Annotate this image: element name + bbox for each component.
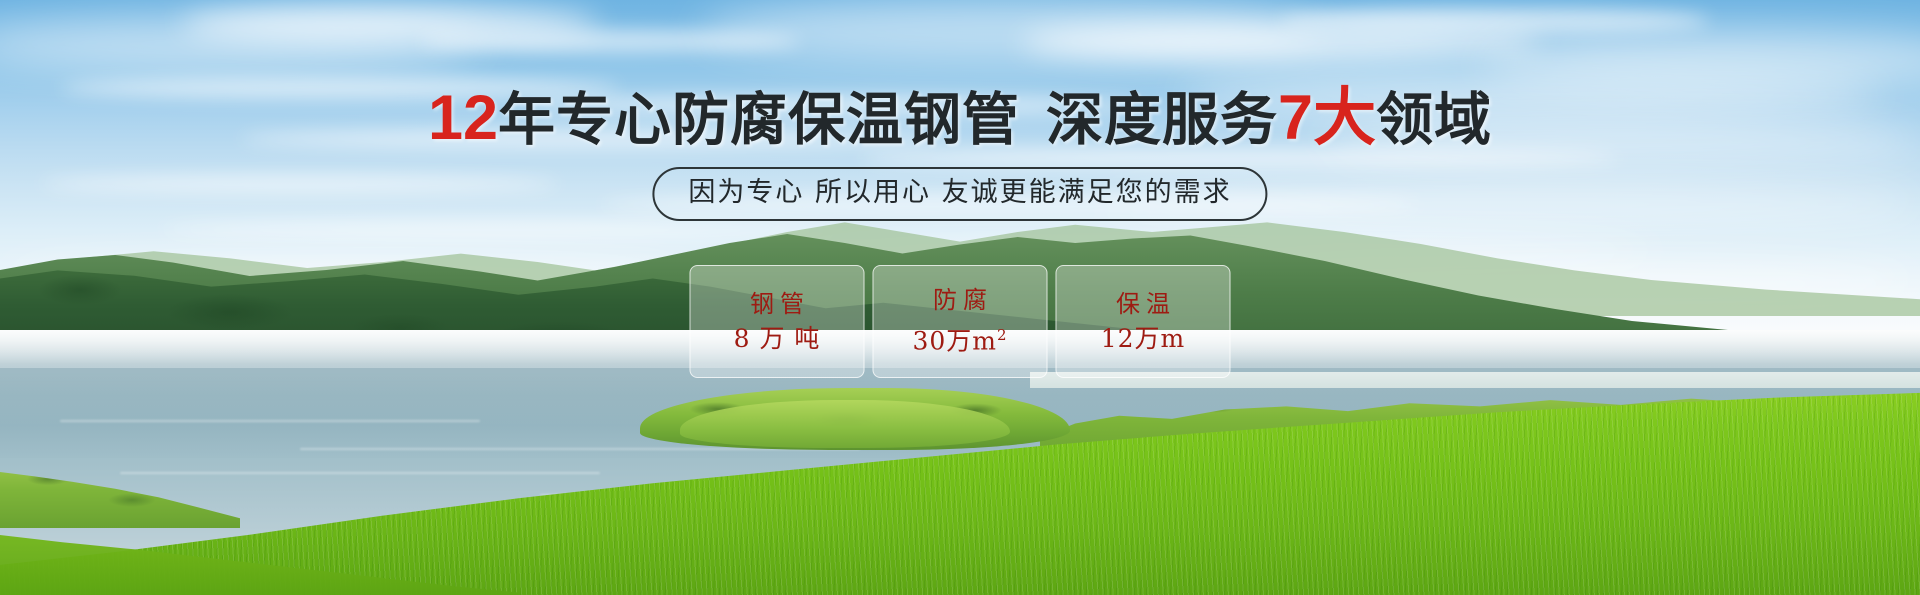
stat-card-value-superscript: 2 (997, 326, 1008, 344)
stat-card-value: 8 万 吨 (734, 324, 821, 354)
stat-card-title: 保温 (1110, 290, 1176, 318)
grass-island-top (680, 400, 1010, 448)
headline-text-fields: 领域 (1376, 87, 1492, 153)
hero-banner: 12年专心防腐保温钢管深度服务7大领域 因为专心 所以用心 友诚更能满足您的需求… (0, 0, 1920, 595)
stat-card-title: 钢管 (744, 290, 810, 318)
stat-card-anticorrosion[interactable]: 防腐 30万m2 (873, 265, 1048, 378)
headline-number-years: 12 (428, 83, 498, 153)
subtitle-pill: 因为专心 所以用心 友诚更能满足您的需求 (652, 167, 1267, 221)
stat-card-steel-pipe[interactable]: 钢管 8 万 吨 (690, 265, 865, 378)
headline-number-fields: 7 (1278, 83, 1313, 153)
headline-unit-da: 大 (1313, 83, 1376, 153)
headline-text-primary: 年专心防腐保温钢管 (498, 87, 1020, 153)
stat-card-value: 30万m2 (912, 320, 1007, 356)
stat-card-value: 12万m (1101, 324, 1186, 354)
headline: 12年专心防腐保温钢管深度服务7大领域 (0, 88, 1920, 150)
stat-card-title: 防腐 (927, 286, 993, 314)
stat-card-insulation[interactable]: 保温 12万m (1056, 265, 1231, 378)
headline-text-service: 深度服务 (1046, 87, 1278, 153)
stat-card-group: 钢管 8 万 吨 防腐 30万m2 保温 12万m (690, 265, 1231, 378)
stat-card-value-text: 30万m (912, 327, 997, 356)
